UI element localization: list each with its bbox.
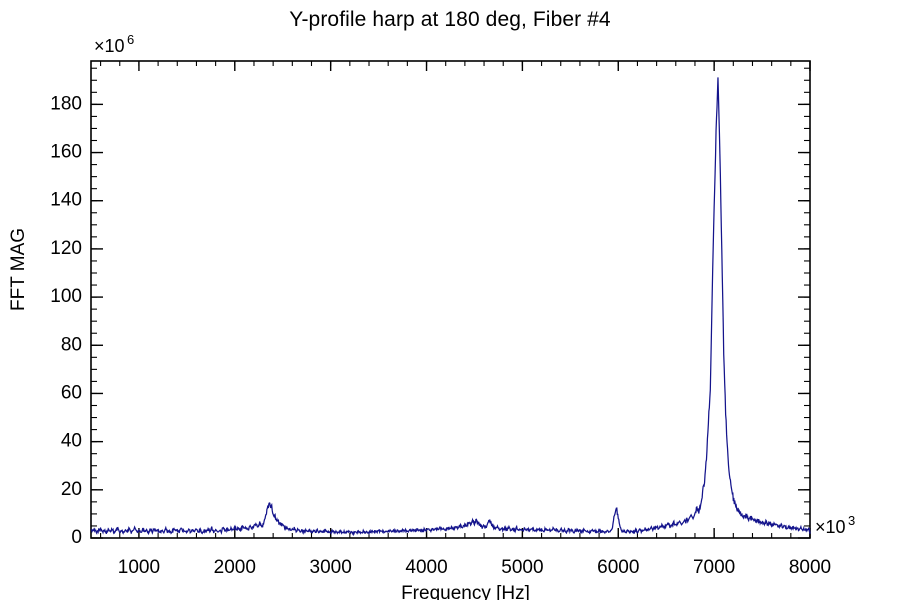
y-axis-multiplier-exponent: 6 <box>127 32 134 47</box>
y-tick-label: 180 <box>50 93 82 114</box>
y-tick-label: 60 <box>61 382 82 403</box>
y-tick-label: 0 <box>71 527 82 548</box>
x-axis-multiplier-exponent: 3 <box>848 513 855 528</box>
x-tick-label: 8000 <box>789 557 831 578</box>
y-tick-label: 100 <box>50 286 82 307</box>
axis-labels-group: 1000200030004000500060007000800002040608… <box>8 32 855 600</box>
y-tick-label: 160 <box>50 142 82 163</box>
x-axis-multiplier: ×10 <box>815 517 846 537</box>
axes-group <box>91 61 810 538</box>
x-tick-label: 2000 <box>214 557 256 578</box>
x-tick-label: 6000 <box>597 557 639 578</box>
fft-spectrum-chart: 1000200030004000500060007000800002040608… <box>0 0 900 600</box>
y-tick-label: 80 <box>61 334 82 355</box>
x-tick-label: 7000 <box>693 557 735 578</box>
x-tick-label: 5000 <box>501 557 543 578</box>
plot-frame <box>91 61 810 538</box>
y-tick-label: 120 <box>50 238 82 259</box>
x-axis-title: Frequency [Hz] <box>401 583 530 600</box>
y-tick-label: 40 <box>61 431 82 452</box>
y-tick-label: 20 <box>61 479 82 500</box>
spectrum-line <box>91 77 810 534</box>
plot-canvas: Y-profile harp at 180 deg, Fiber #4 1000… <box>0 0 900 600</box>
y-tick-label: 140 <box>50 190 82 211</box>
y-axis-multiplier: ×10 <box>94 36 125 56</box>
y-axis-title: FFT MAG <box>8 228 29 311</box>
x-tick-label: 1000 <box>118 557 160 578</box>
x-tick-label: 3000 <box>310 557 352 578</box>
x-tick-label: 4000 <box>405 557 447 578</box>
spectrum-series-group <box>91 77 810 534</box>
